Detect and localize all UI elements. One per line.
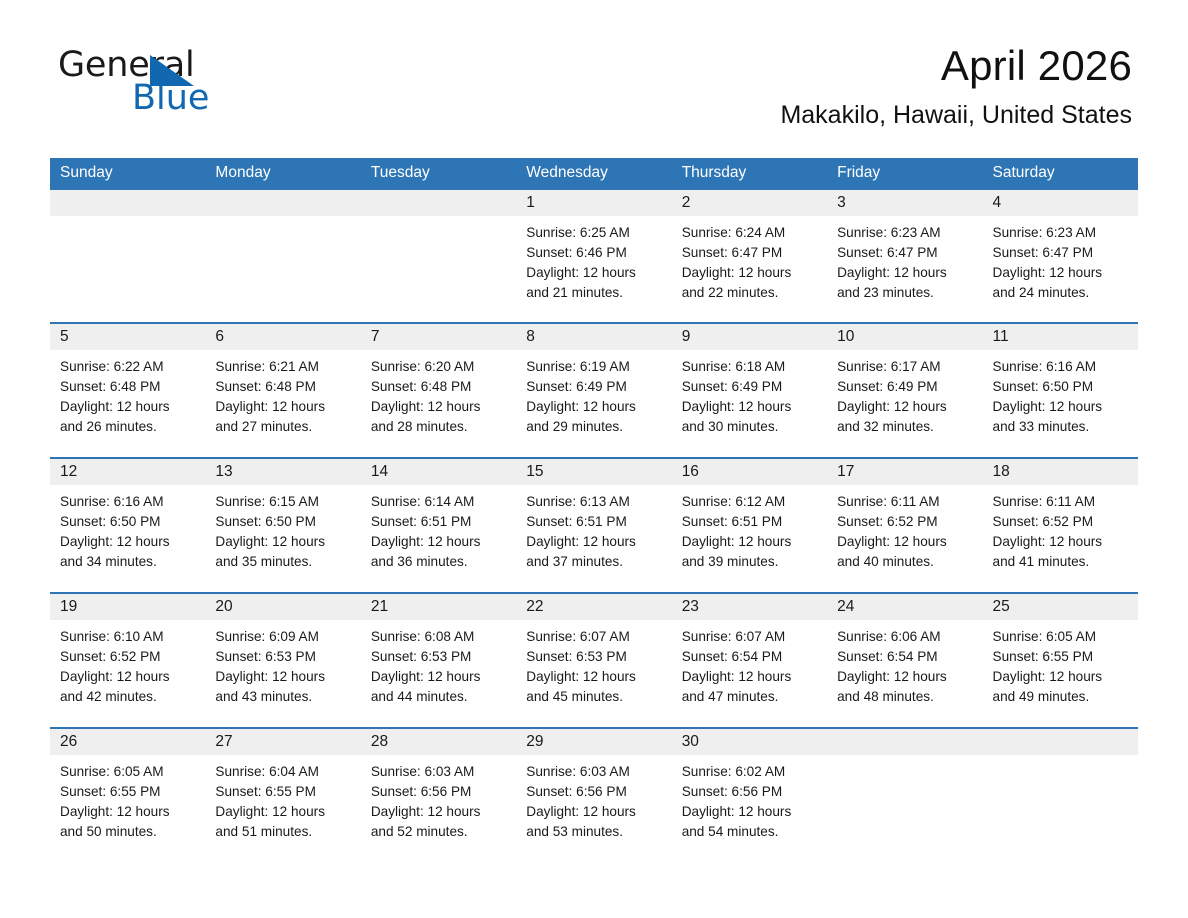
sunrise-text: Sunrise: 6:23 AM: [837, 223, 972, 243]
daylight-text-line2: and 28 minutes.: [371, 417, 506, 437]
daylight-text-line1: Daylight: 12 hours: [993, 532, 1128, 552]
daylight-text-line2: and 48 minutes.: [837, 687, 972, 707]
sunrise-text: Sunrise: 6:17 AM: [837, 357, 972, 377]
day-info: Sunrise: 6:16 AM Sunset: 6:50 PM Dayligh…: [50, 485, 205, 572]
sunset-text: Sunset: 6:55 PM: [60, 782, 195, 802]
day-number: 1: [516, 190, 671, 216]
daylight-text-line1: Daylight: 12 hours: [837, 667, 972, 687]
daylight-text-line2: and 54 minutes.: [682, 822, 817, 842]
daylight-text-line1: Daylight: 12 hours: [60, 397, 195, 417]
daylight-text-line1: Daylight: 12 hours: [837, 397, 972, 417]
day-info: Sunrise: 6:02 AM Sunset: 6:56 PM Dayligh…: [672, 755, 827, 842]
daylight-text-line2: and 41 minutes.: [993, 552, 1128, 572]
day-cell[interactable]: 22 Sunrise: 6:07 AM Sunset: 6:53 PM Dayl…: [516, 594, 671, 727]
day-number: 10: [827, 324, 982, 350]
sunrise-text: Sunrise: 6:11 AM: [993, 492, 1128, 512]
sunrise-text: Sunrise: 6:07 AM: [526, 627, 661, 647]
week-row: 12 Sunrise: 6:16 AM Sunset: 6:50 PM Dayl…: [50, 457, 1138, 592]
day-number: 11: [983, 324, 1138, 350]
daylight-text-line2: and 36 minutes.: [371, 552, 506, 572]
sunrise-text: Sunrise: 6:03 AM: [526, 762, 661, 782]
daylight-text-line1: Daylight: 12 hours: [60, 667, 195, 687]
day-number: 27: [205, 729, 360, 755]
daylight-text-line2: and 47 minutes.: [682, 687, 817, 707]
sunset-text: Sunset: 6:51 PM: [526, 512, 661, 532]
daylight-text-line1: Daylight: 12 hours: [60, 802, 195, 822]
daylight-text-line2: and 21 minutes.: [526, 283, 661, 303]
day-cell[interactable]: 24 Sunrise: 6:06 AM Sunset: 6:54 PM Dayl…: [827, 594, 982, 727]
sunrise-text: Sunrise: 6:11 AM: [837, 492, 972, 512]
sunset-text: Sunset: 6:49 PM: [837, 377, 972, 397]
day-number: 9: [672, 324, 827, 350]
daylight-text-line1: Daylight: 12 hours: [526, 667, 661, 687]
week-row: 1 Sunrise: 6:25 AM Sunset: 6:46 PM Dayli…: [50, 188, 1138, 322]
day-info: Sunrise: 6:18 AM Sunset: 6:49 PM Dayligh…: [672, 350, 827, 437]
daylight-text-line2: and 50 minutes.: [60, 822, 195, 842]
sunrise-text: Sunrise: 6:24 AM: [682, 223, 817, 243]
day-cell[interactable]: [827, 729, 982, 860]
sunrise-text: Sunrise: 6:15 AM: [215, 492, 350, 512]
day-cell[interactable]: 13 Sunrise: 6:15 AM Sunset: 6:50 PM Dayl…: [205, 459, 360, 592]
daylight-text-line1: Daylight: 12 hours: [215, 532, 350, 552]
day-number: 15: [516, 459, 671, 485]
sunrise-text: Sunrise: 6:25 AM: [526, 223, 661, 243]
day-cell[interactable]: 8 Sunrise: 6:19 AM Sunset: 6:49 PM Dayli…: [516, 324, 671, 457]
sunset-text: Sunset: 6:54 PM: [837, 647, 972, 667]
day-number: 29: [516, 729, 671, 755]
sunrise-text: Sunrise: 6:12 AM: [682, 492, 817, 512]
sunrise-text: Sunrise: 6:22 AM: [60, 357, 195, 377]
daylight-text-line1: Daylight: 12 hours: [837, 263, 972, 283]
week-row: 5 Sunrise: 6:22 AM Sunset: 6:48 PM Dayli…: [50, 322, 1138, 457]
week-row: 26 Sunrise: 6:05 AM Sunset: 6:55 PM Dayl…: [50, 727, 1138, 860]
page-subtitle: Makakilo, Hawaii, United States: [780, 102, 1132, 128]
daylight-text-line1: Daylight: 12 hours: [682, 802, 817, 822]
daylight-text-line2: and 51 minutes.: [215, 822, 350, 842]
sunrise-text: Sunrise: 6:02 AM: [682, 762, 817, 782]
day-number: 5: [50, 324, 205, 350]
generalblue-logo[interactable]: General Blue: [58, 48, 258, 120]
sunrise-text: Sunrise: 6:19 AM: [526, 357, 661, 377]
day-info: Sunrise: 6:23 AM Sunset: 6:47 PM Dayligh…: [827, 216, 982, 303]
daylight-text-line1: Daylight: 12 hours: [682, 667, 817, 687]
daylight-text-line2: and 34 minutes.: [60, 552, 195, 572]
calendar-page: General Blue April 2026 Makakilo, Hawaii…: [0, 0, 1188, 918]
sunset-text: Sunset: 6:53 PM: [526, 647, 661, 667]
day-info: Sunrise: 6:03 AM Sunset: 6:56 PM Dayligh…: [361, 755, 516, 842]
day-info: [827, 755, 982, 762]
daylight-text-line2: and 52 minutes.: [371, 822, 506, 842]
daylight-text-line2: and 35 minutes.: [215, 552, 350, 572]
sunset-text: Sunset: 6:50 PM: [215, 512, 350, 532]
day-number: 16: [672, 459, 827, 485]
sunset-text: Sunset: 6:47 PM: [837, 243, 972, 263]
sunset-text: Sunset: 6:47 PM: [993, 243, 1128, 263]
title-block: April 2026 Makakilo, Hawaii, United Stat…: [780, 44, 1132, 128]
day-info: [205, 216, 360, 223]
day-info: Sunrise: 6:14 AM Sunset: 6:51 PM Dayligh…: [361, 485, 516, 572]
day-info: Sunrise: 6:15 AM Sunset: 6:50 PM Dayligh…: [205, 485, 360, 572]
calendar-grid: Sunday Monday Tuesday Wednesday Thursday…: [50, 158, 1138, 860]
day-cell[interactable]: 15 Sunrise: 6:13 AM Sunset: 6:51 PM Dayl…: [516, 459, 671, 592]
daylight-text-line2: and 44 minutes.: [371, 687, 506, 707]
daylight-text-line1: Daylight: 12 hours: [682, 263, 817, 283]
daylight-text-line1: Daylight: 12 hours: [371, 667, 506, 687]
daylight-text-line1: Daylight: 12 hours: [371, 532, 506, 552]
day-cell[interactable]: 11 Sunrise: 6:16 AM Sunset: 6:50 PM Dayl…: [983, 324, 1138, 457]
daylight-text-line2: and 26 minutes.: [60, 417, 195, 437]
day-info: Sunrise: 6:25 AM Sunset: 6:46 PM Dayligh…: [516, 216, 671, 303]
daylight-text-line2: and 33 minutes.: [993, 417, 1128, 437]
day-cell[interactable]: 26 Sunrise: 6:05 AM Sunset: 6:55 PM Dayl…: [50, 729, 205, 860]
weekday-header-row: Sunday Monday Tuesday Wednesday Thursday…: [50, 158, 1138, 188]
day-number: [983, 729, 1138, 755]
weekday-wednesday: Wednesday: [516, 158, 671, 188]
sunset-text: Sunset: 6:55 PM: [993, 647, 1128, 667]
day-info: Sunrise: 6:07 AM Sunset: 6:53 PM Dayligh…: [516, 620, 671, 707]
day-info: Sunrise: 6:07 AM Sunset: 6:54 PM Dayligh…: [672, 620, 827, 707]
day-cell[interactable]: 14 Sunrise: 6:14 AM Sunset: 6:51 PM Dayl…: [361, 459, 516, 592]
day-number: [361, 190, 516, 216]
sunrise-text: Sunrise: 6:23 AM: [993, 223, 1128, 243]
day-number: 8: [516, 324, 671, 350]
daylight-text-line1: Daylight: 12 hours: [682, 397, 817, 417]
sunset-text: Sunset: 6:47 PM: [682, 243, 817, 263]
sunset-text: Sunset: 6:50 PM: [60, 512, 195, 532]
sunset-text: Sunset: 6:52 PM: [837, 512, 972, 532]
daylight-text-line2: and 30 minutes.: [682, 417, 817, 437]
day-number: 3: [827, 190, 982, 216]
day-info: [361, 216, 516, 223]
daylight-text-line2: and 49 minutes.: [993, 687, 1128, 707]
sunrise-text: Sunrise: 6:03 AM: [371, 762, 506, 782]
sunset-text: Sunset: 6:49 PM: [526, 377, 661, 397]
sunset-text: Sunset: 6:52 PM: [60, 647, 195, 667]
sunrise-text: Sunrise: 6:21 AM: [215, 357, 350, 377]
week-row: 19 Sunrise: 6:10 AM Sunset: 6:52 PM Dayl…: [50, 592, 1138, 727]
day-number: 12: [50, 459, 205, 485]
day-number: 17: [827, 459, 982, 485]
day-info: Sunrise: 6:03 AM Sunset: 6:56 PM Dayligh…: [516, 755, 671, 842]
daylight-text-line1: Daylight: 12 hours: [215, 802, 350, 822]
day-info: Sunrise: 6:04 AM Sunset: 6:55 PM Dayligh…: [205, 755, 360, 842]
daylight-text-line2: and 24 minutes.: [993, 283, 1128, 303]
day-info: Sunrise: 6:05 AM Sunset: 6:55 PM Dayligh…: [50, 755, 205, 842]
day-number: 26: [50, 729, 205, 755]
daylight-text-line2: and 32 minutes.: [837, 417, 972, 437]
weekday-saturday: Saturday: [983, 158, 1138, 188]
day-cell[interactable]: 28 Sunrise: 6:03 AM Sunset: 6:56 PM Dayl…: [361, 729, 516, 860]
sunset-text: Sunset: 6:56 PM: [371, 782, 506, 802]
day-info: Sunrise: 6:17 AM Sunset: 6:49 PM Dayligh…: [827, 350, 982, 437]
sunset-text: Sunset: 6:48 PM: [215, 377, 350, 397]
day-number: 20: [205, 594, 360, 620]
sunset-text: Sunset: 6:50 PM: [993, 377, 1128, 397]
day-cell[interactable]: 4 Sunrise: 6:23 AM Sunset: 6:47 PM Dayli…: [983, 190, 1138, 322]
day-cell[interactable]: 12 Sunrise: 6:16 AM Sunset: 6:50 PM Dayl…: [50, 459, 205, 592]
sunrise-text: Sunrise: 6:18 AM: [682, 357, 817, 377]
day-number: 13: [205, 459, 360, 485]
day-info: Sunrise: 6:20 AM Sunset: 6:48 PM Dayligh…: [361, 350, 516, 437]
day-info: Sunrise: 6:10 AM Sunset: 6:52 PM Dayligh…: [50, 620, 205, 707]
daylight-text-line2: and 29 minutes.: [526, 417, 661, 437]
sunrise-text: Sunrise: 6:16 AM: [60, 492, 195, 512]
day-cell[interactable]: 20 Sunrise: 6:09 AM Sunset: 6:53 PM Dayl…: [205, 594, 360, 727]
daylight-text-line1: Daylight: 12 hours: [526, 532, 661, 552]
daylight-text-line2: and 22 minutes.: [682, 283, 817, 303]
daylight-text-line2: and 45 minutes.: [526, 687, 661, 707]
day-cell[interactable]: 29 Sunrise: 6:03 AM Sunset: 6:56 PM Dayl…: [516, 729, 671, 860]
daylight-text-line2: and 27 minutes.: [215, 417, 350, 437]
daylight-text-line1: Daylight: 12 hours: [526, 263, 661, 283]
weekday-sunday: Sunday: [50, 158, 205, 188]
day-cell[interactable]: 18 Sunrise: 6:11 AM Sunset: 6:52 PM Dayl…: [983, 459, 1138, 592]
day-info: Sunrise: 6:16 AM Sunset: 6:50 PM Dayligh…: [983, 350, 1138, 437]
sunset-text: Sunset: 6:53 PM: [215, 647, 350, 667]
day-number: [827, 729, 982, 755]
day-cell[interactable]: 16 Sunrise: 6:12 AM Sunset: 6:51 PM Dayl…: [672, 459, 827, 592]
day-cell[interactable]: [983, 729, 1138, 860]
day-info: Sunrise: 6:12 AM Sunset: 6:51 PM Dayligh…: [672, 485, 827, 572]
day-info: Sunrise: 6:22 AM Sunset: 6:48 PM Dayligh…: [50, 350, 205, 437]
sunset-text: Sunset: 6:48 PM: [60, 377, 195, 397]
day-number: 28: [361, 729, 516, 755]
day-cell[interactable]: [50, 190, 205, 322]
daylight-text-line2: and 39 minutes.: [682, 552, 817, 572]
sunrise-text: Sunrise: 6:13 AM: [526, 492, 661, 512]
sunrise-text: Sunrise: 6:04 AM: [215, 762, 350, 782]
day-info: Sunrise: 6:21 AM Sunset: 6:48 PM Dayligh…: [205, 350, 360, 437]
day-info: [983, 755, 1138, 762]
daylight-text-line2: and 23 minutes.: [837, 283, 972, 303]
day-cell[interactable]: 10 Sunrise: 6:17 AM Sunset: 6:49 PM Dayl…: [827, 324, 982, 457]
daylight-text-line1: Daylight: 12 hours: [60, 532, 195, 552]
sunrise-text: Sunrise: 6:10 AM: [60, 627, 195, 647]
day-info: Sunrise: 6:05 AM Sunset: 6:55 PM Dayligh…: [983, 620, 1138, 707]
daylight-text-line1: Daylight: 12 hours: [371, 802, 506, 822]
sunrise-text: Sunrise: 6:05 AM: [60, 762, 195, 782]
day-info: [50, 216, 205, 223]
day-cell[interactable]: 23 Sunrise: 6:07 AM Sunset: 6:54 PM Dayl…: [672, 594, 827, 727]
day-cell[interactable]: 17 Sunrise: 6:11 AM Sunset: 6:52 PM Dayl…: [827, 459, 982, 592]
daylight-text-line1: Daylight: 12 hours: [215, 397, 350, 417]
sunset-text: Sunset: 6:49 PM: [682, 377, 817, 397]
sunset-text: Sunset: 6:56 PM: [682, 782, 817, 802]
sunrise-text: Sunrise: 6:20 AM: [371, 357, 506, 377]
day-info: Sunrise: 6:06 AM Sunset: 6:54 PM Dayligh…: [827, 620, 982, 707]
day-cell[interactable]: 30 Sunrise: 6:02 AM Sunset: 6:56 PM Dayl…: [672, 729, 827, 860]
sunrise-text: Sunrise: 6:06 AM: [837, 627, 972, 647]
day-cell[interactable]: [361, 190, 516, 322]
daylight-text-line2: and 43 minutes.: [215, 687, 350, 707]
daylight-text-line1: Daylight: 12 hours: [993, 263, 1128, 283]
daylight-text-line2: and 42 minutes.: [60, 687, 195, 707]
sunset-text: Sunset: 6:54 PM: [682, 647, 817, 667]
day-number: 30: [672, 729, 827, 755]
daylight-text-line2: and 37 minutes.: [526, 552, 661, 572]
daylight-text-line1: Daylight: 12 hours: [526, 397, 661, 417]
weekday-tuesday: Tuesday: [361, 158, 516, 188]
day-number: 22: [516, 594, 671, 620]
day-number: 6: [205, 324, 360, 350]
sunrise-text: Sunrise: 6:14 AM: [371, 492, 506, 512]
day-cell[interactable]: 1 Sunrise: 6:25 AM Sunset: 6:46 PM Dayli…: [516, 190, 671, 322]
sunrise-text: Sunrise: 6:05 AM: [993, 627, 1128, 647]
day-cell[interactable]: 19 Sunrise: 6:10 AM Sunset: 6:52 PM Dayl…: [50, 594, 205, 727]
sunrise-text: Sunrise: 6:08 AM: [371, 627, 506, 647]
day-number: 23: [672, 594, 827, 620]
day-cell[interactable]: 25 Sunrise: 6:05 AM Sunset: 6:55 PM Dayl…: [983, 594, 1138, 727]
day-info: Sunrise: 6:11 AM Sunset: 6:52 PM Dayligh…: [983, 485, 1138, 572]
page-title: April 2026: [780, 44, 1132, 88]
daylight-text-line1: Daylight: 12 hours: [993, 667, 1128, 687]
day-number: 4: [983, 190, 1138, 216]
day-cell[interactable]: 5 Sunrise: 6:22 AM Sunset: 6:48 PM Dayli…: [50, 324, 205, 457]
day-number: 21: [361, 594, 516, 620]
daylight-text-line1: Daylight: 12 hours: [837, 532, 972, 552]
daylight-text-line1: Daylight: 12 hours: [526, 802, 661, 822]
sunset-text: Sunset: 6:46 PM: [526, 243, 661, 263]
logo-text-blue: Blue: [132, 81, 209, 116]
sunrise-text: Sunrise: 6:09 AM: [215, 627, 350, 647]
sunset-text: Sunset: 6:55 PM: [215, 782, 350, 802]
day-number: [50, 190, 205, 216]
day-info: Sunrise: 6:09 AM Sunset: 6:53 PM Dayligh…: [205, 620, 360, 707]
daylight-text-line1: Daylight: 12 hours: [215, 667, 350, 687]
day-number: 19: [50, 594, 205, 620]
day-info: Sunrise: 6:11 AM Sunset: 6:52 PM Dayligh…: [827, 485, 982, 572]
sunset-text: Sunset: 6:51 PM: [682, 512, 817, 532]
day-number: 25: [983, 594, 1138, 620]
day-info: Sunrise: 6:13 AM Sunset: 6:51 PM Dayligh…: [516, 485, 671, 572]
weekday-thursday: Thursday: [672, 158, 827, 188]
daylight-text-line1: Daylight: 12 hours: [682, 532, 817, 552]
sunrise-text: Sunrise: 6:07 AM: [682, 627, 817, 647]
sunset-text: Sunset: 6:48 PM: [371, 377, 506, 397]
sunset-text: Sunset: 6:56 PM: [526, 782, 661, 802]
day-number: 18: [983, 459, 1138, 485]
day-info: Sunrise: 6:24 AM Sunset: 6:47 PM Dayligh…: [672, 216, 827, 303]
day-number: 7: [361, 324, 516, 350]
day-cell[interactable]: 3 Sunrise: 6:23 AM Sunset: 6:47 PM Dayli…: [827, 190, 982, 322]
day-cell[interactable]: 27 Sunrise: 6:04 AM Sunset: 6:55 PM Dayl…: [205, 729, 360, 860]
day-cell[interactable]: [205, 190, 360, 322]
daylight-text-line1: Daylight: 12 hours: [993, 397, 1128, 417]
day-info: Sunrise: 6:23 AM Sunset: 6:47 PM Dayligh…: [983, 216, 1138, 303]
page-header: General Blue April 2026 Makakilo, Hawaii…: [0, 0, 1188, 118]
day-number: [205, 190, 360, 216]
day-info: Sunrise: 6:08 AM Sunset: 6:53 PM Dayligh…: [361, 620, 516, 707]
sunset-text: Sunset: 6:53 PM: [371, 647, 506, 667]
sunset-text: Sunset: 6:52 PM: [993, 512, 1128, 532]
day-info: Sunrise: 6:19 AM Sunset: 6:49 PM Dayligh…: [516, 350, 671, 437]
day-number: 24: [827, 594, 982, 620]
day-cell[interactable]: 21 Sunrise: 6:08 AM Sunset: 6:53 PM Dayl…: [361, 594, 516, 727]
weekday-monday: Monday: [205, 158, 360, 188]
weekday-friday: Friday: [827, 158, 982, 188]
sunset-text: Sunset: 6:51 PM: [371, 512, 506, 532]
daylight-text-line1: Daylight: 12 hours: [371, 397, 506, 417]
sunrise-text: Sunrise: 6:16 AM: [993, 357, 1128, 377]
day-cell[interactable]: 7 Sunrise: 6:20 AM Sunset: 6:48 PM Dayli…: [361, 324, 516, 457]
day-number: 2: [672, 190, 827, 216]
day-cell[interactable]: 9 Sunrise: 6:18 AM Sunset: 6:49 PM Dayli…: [672, 324, 827, 457]
day-number: 14: [361, 459, 516, 485]
day-cell[interactable]: 2 Sunrise: 6:24 AM Sunset: 6:47 PM Dayli…: [672, 190, 827, 322]
daylight-text-line2: and 53 minutes.: [526, 822, 661, 842]
daylight-text-line2: and 40 minutes.: [837, 552, 972, 572]
day-cell[interactable]: 6 Sunrise: 6:21 AM Sunset: 6:48 PM Dayli…: [205, 324, 360, 457]
